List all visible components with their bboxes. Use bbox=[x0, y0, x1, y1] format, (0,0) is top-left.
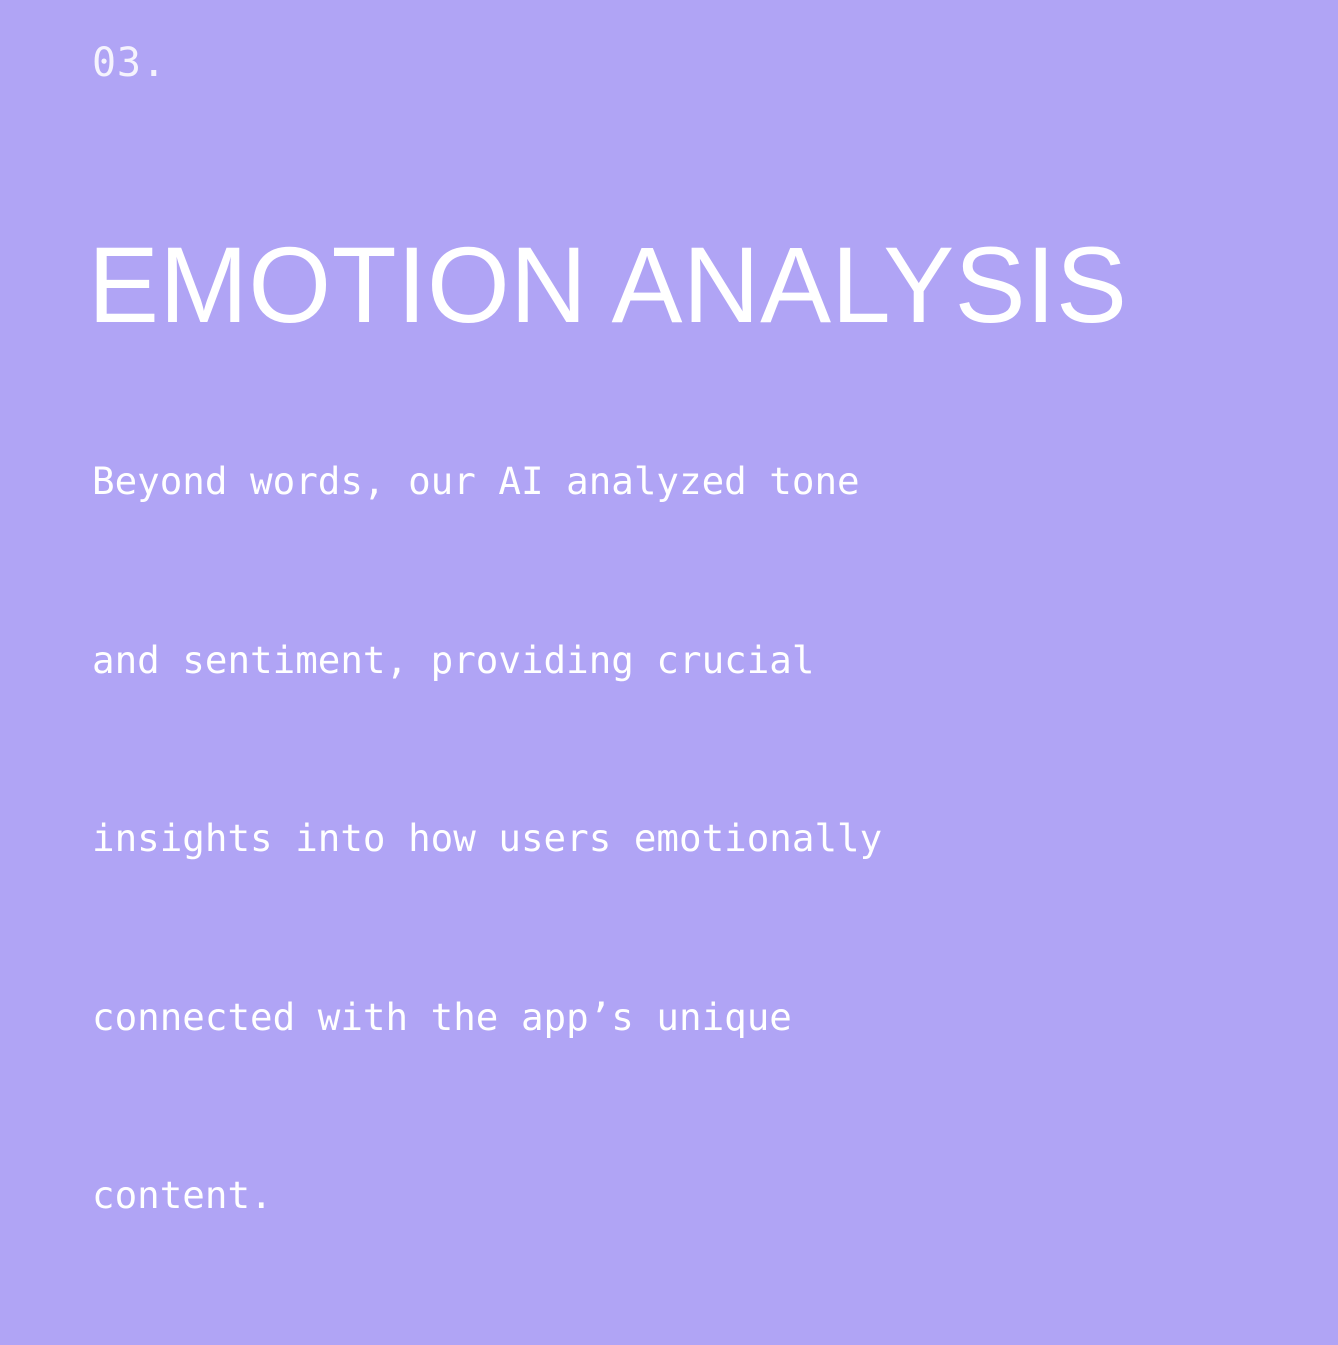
slide-canvas: 03. EMOTION ANALYSIS Beyond words, our A… bbox=[0, 0, 1338, 714]
body-line: content. bbox=[92, 1166, 882, 1226]
body-paragraph: Beyond words, our AI analyzed tone and s… bbox=[92, 333, 882, 1345]
slide-content: 03. EMOTION ANALYSIS Beyond words, our A… bbox=[92, 0, 1278, 714]
step-number: 03. bbox=[92, 40, 167, 86]
body-line: and sentiment, providing crucial bbox=[92, 631, 882, 691]
page-title: EMOTION ANALYSIS bbox=[88, 229, 1127, 341]
body-line: Beyond words, our AI analyzed tone bbox=[92, 452, 882, 512]
body-line: connected with the app’s unique bbox=[92, 988, 882, 1048]
body-line: insights into how users emotionally bbox=[92, 809, 882, 869]
